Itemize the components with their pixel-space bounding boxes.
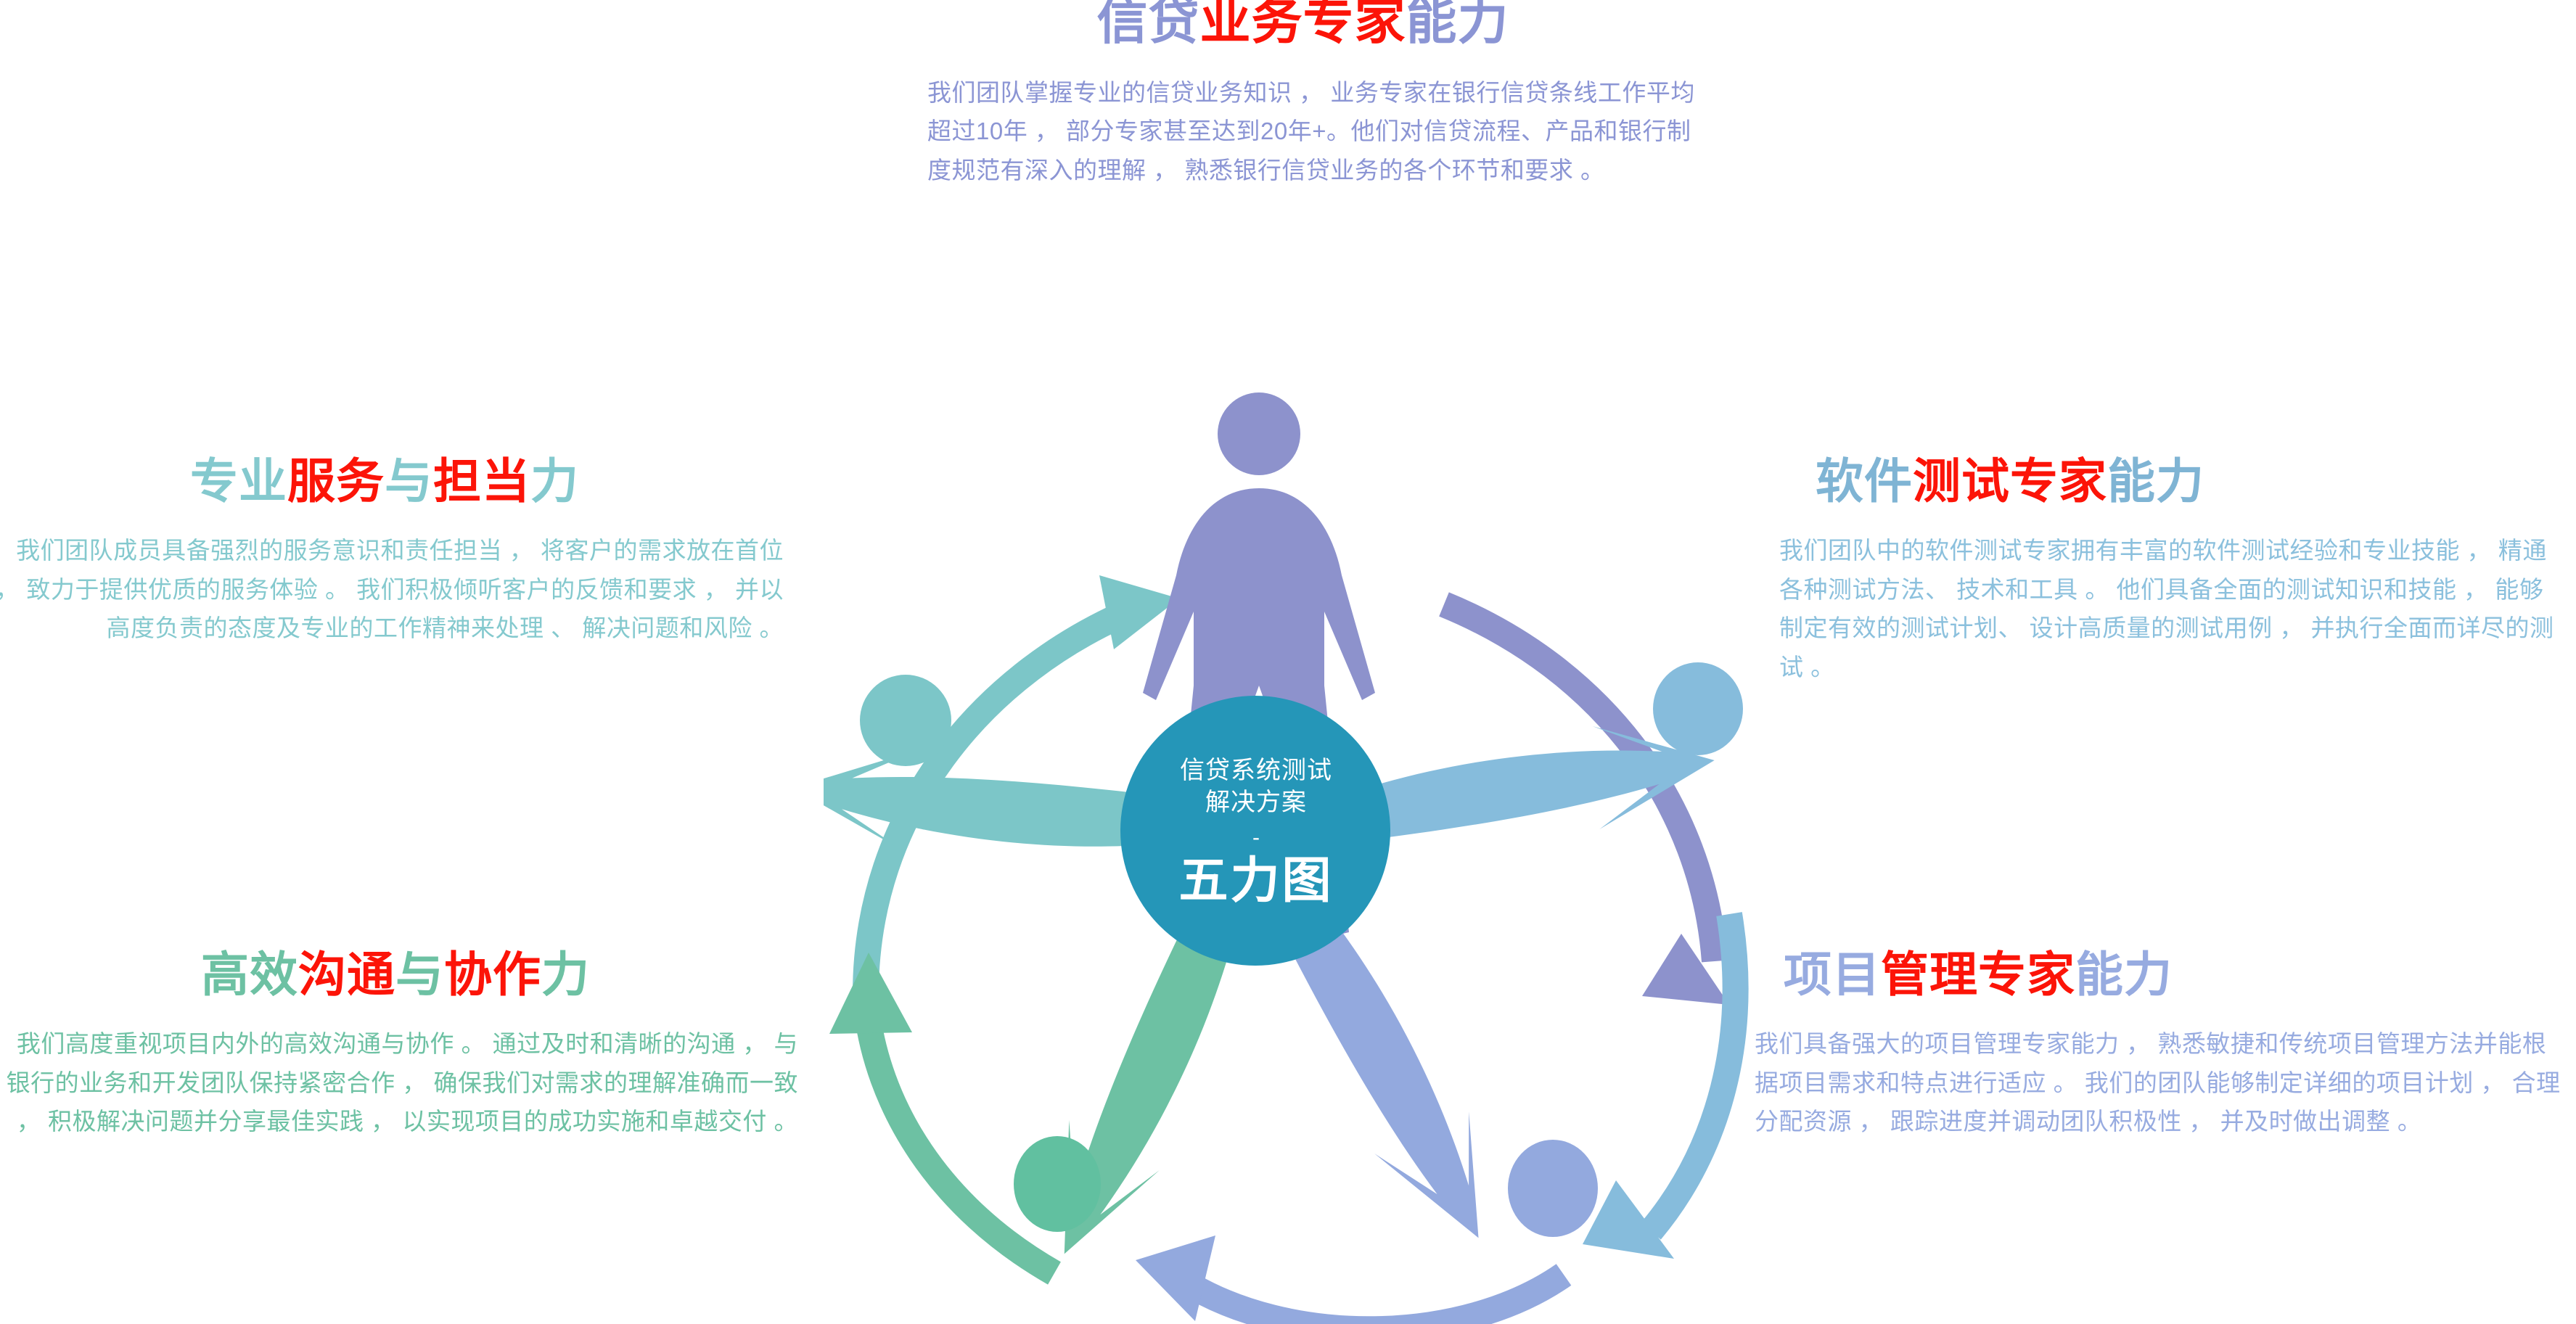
- panel-credit-expertise: 信贷业务专家能力 我们团队掌握专业的信贷业务知识 ， 业务专家在银行信贷条线工作…: [927, 0, 1747, 213]
- node-comm-dot: [1014, 1136, 1101, 1232]
- panel-pm-title: 项目管理专家能力: [1755, 949, 2576, 1000]
- title-part: 信贷: [1097, 0, 1200, 49]
- panel-service-title: 专业服务与担当力: [0, 456, 776, 507]
- panel-software-testing: 软件测试专家能力 我们团队中的软件测试专家拥有丰富的软件测试经验和专业技能 ， …: [1779, 456, 2576, 710]
- infographic-canvas: 信贷系统测试 解决方案 - 五力图 信贷业务专家能力 我们团队掌握专业的信贷业务…: [0, 0, 2576, 1323]
- node-qa-dot: [1653, 662, 1743, 755]
- node-service-dot: [860, 675, 951, 766]
- panel-communication-collaboration: 高效沟通与协作力 我们高度重视项目内外的高效沟通与协作 。 通过及时和清晰的沟通…: [0, 949, 820, 1165]
- panel-pm-body: 我们具备强大的项目管理专家能力 ， 熟悉敏捷和传统项目管理方法并能根据项目需求和…: [1755, 1024, 2567, 1140]
- title-part: 担当: [433, 454, 530, 508]
- panel-service-commitment: 专业服务与担当力 我们团队成员具备强烈的服务意识和责任担当 ， 将客户的需求放在…: [0, 456, 805, 672]
- title-part: 能力: [2107, 454, 2204, 508]
- title-part: 能力: [2075, 947, 2173, 1001]
- panel-credit-body: 我们团队掌握专业的信贷业务知识 ， 业务专家在银行信贷条线工作平均超过10年 ，…: [927, 73, 1704, 189]
- panel-communication-body: 我们高度重视项目内外的高效沟通与协作 。 通过及时和清晰的沟通 ， 与银行的业务…: [0, 1024, 798, 1140]
- title-part: 项目: [1784, 947, 1881, 1001]
- title-part: 高效: [201, 947, 298, 1001]
- node-pm-dot: [1508, 1140, 1598, 1237]
- title-part: 软件: [1816, 454, 1913, 508]
- panel-service-body: 我们团队成员具备强烈的服务意识和责任担当 ， 将客户的需求放在首位 ， 致力于提…: [0, 531, 784, 647]
- panel-qa-title: 软件测试专家能力: [1779, 456, 2576, 507]
- panel-credit-title: 信贷业务专家能力: [927, 0, 1678, 49]
- title-part: 与: [395, 947, 444, 1001]
- flow-arrow-pm-to-comm: [1136, 1235, 1564, 1324]
- title-part: 沟通: [298, 947, 395, 1001]
- panel-communication-title: 高效沟通与协作力: [0, 949, 798, 1000]
- title-part: 测试专家: [1913, 454, 2107, 508]
- title-part: 与: [385, 454, 433, 508]
- title-part: 服务: [287, 454, 385, 508]
- title-part: 业务专家: [1200, 0, 1406, 49]
- five-forces-diagram: [824, 381, 1760, 1324]
- title-part: 协作: [444, 947, 541, 1001]
- title-part: 管理专家: [1881, 947, 2075, 1001]
- hub-circle: [1120, 696, 1390, 966]
- wing-to-service: [824, 736, 1159, 876]
- panel-qa-body: 我们团队中的软件测试专家拥有丰富的软件测试经验和专业技能 ， 精通各种测试方法、…: [1779, 531, 2559, 686]
- title-part: 能力: [1406, 0, 1509, 49]
- title-part: 专业: [190, 454, 287, 508]
- panel-project-management: 项目管理专家能力 我们具备强大的项目管理专家能力 ， 熟悉敏捷和传统项目管理方法…: [1755, 949, 2576, 1165]
- flow-arrow-comm-to-service: [829, 953, 1054, 1273]
- flow-arrow-qa-to-pm: [1583, 914, 1736, 1259]
- title-part: 力: [541, 947, 590, 1001]
- title-part: 力: [530, 454, 579, 508]
